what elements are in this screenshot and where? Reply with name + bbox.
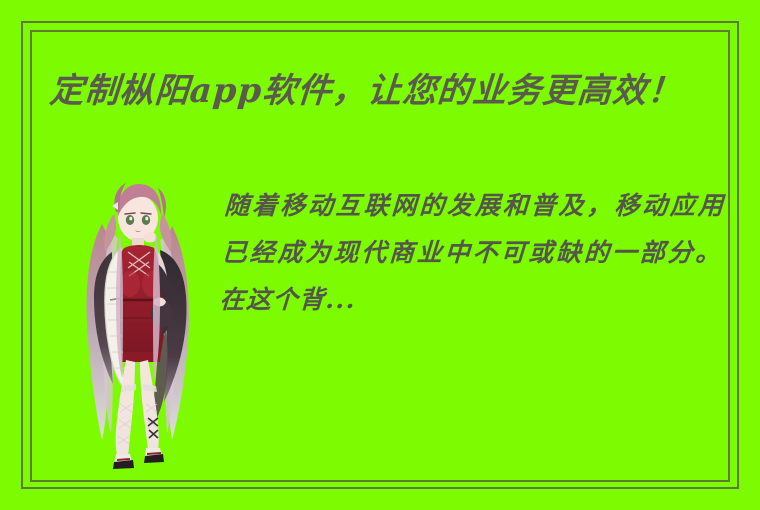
poster-canvas: 定制枞阳app软件，让您的业务更高效！ 随着移动互联网的发展和普及，移动应用已经… [0,0,760,510]
hand-left [144,232,157,243]
anime-girl-illustration [72,172,208,470]
body-paragraph: 随着移动互联网的发展和普及，移动应用已经成为现代商业中不可或缺的一部分。在这个背… [218,182,725,323]
page-title: 定制枞阳app软件，让您的业务更高效！ [48,60,720,114]
illustration-svg [72,172,208,470]
